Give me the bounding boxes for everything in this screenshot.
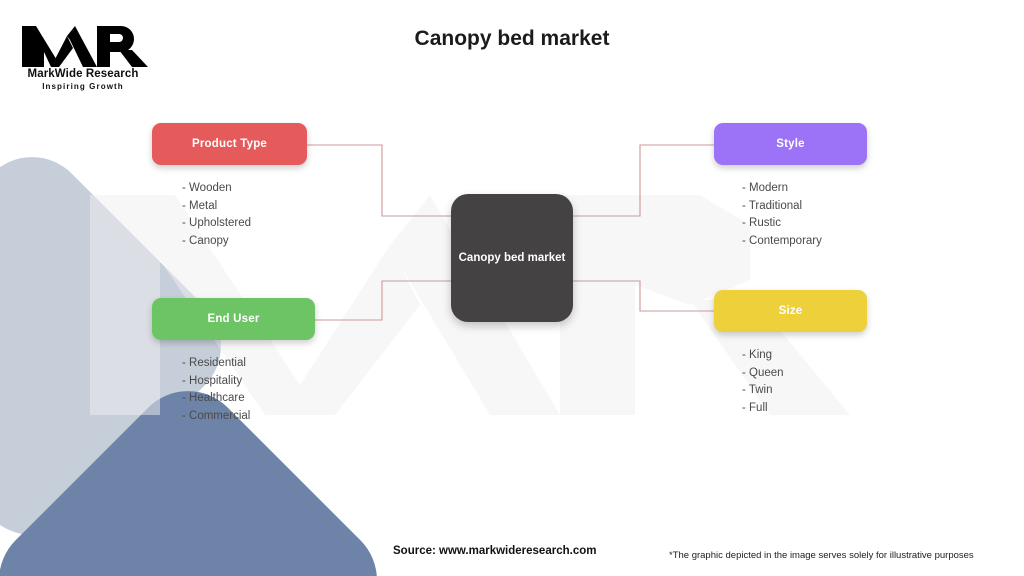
branch-end-user: End User - Residential - Hospitality - H… <box>152 298 315 441</box>
source-text: Source: www.markwideresearch.com <box>393 545 596 557</box>
list-item: - Full <box>742 400 867 418</box>
connector-style <box>572 145 714 216</box>
branch-chip-style[interactable]: Style <box>714 123 867 165</box>
list-item: - Commercial <box>182 408 315 426</box>
branch-items-product-type: - Wooden - Metal - Upholstered - Canopy <box>152 180 307 250</box>
disclaimer-text: *The graphic depicted in the image serve… <box>669 550 974 561</box>
branch-label-product-type: Product Type <box>192 138 267 150</box>
list-item: - Queen <box>742 365 867 383</box>
list-item: - Residential <box>182 355 315 373</box>
branch-chip-end-user[interactable]: End User <box>152 298 315 340</box>
branch-product-type: Product Type - Wooden - Metal - Upholste… <box>152 123 307 266</box>
list-item: - Contemporary <box>742 233 867 251</box>
connector-product-type <box>307 145 452 216</box>
branch-style: Style - Modern - Traditional - Rustic - … <box>714 123 867 266</box>
list-item: - King <box>742 347 867 365</box>
list-item: - Canopy <box>182 233 307 251</box>
connector-size <box>572 281 714 311</box>
list-item: - Upholstered <box>182 215 307 233</box>
branch-items-size: - King - Queen - Twin - Full <box>714 347 867 417</box>
connector-end-user <box>315 281 452 320</box>
center-node[interactable]: Canopy bed market <box>451 194 573 322</box>
branch-chip-product-type[interactable]: Product Type <box>152 123 307 165</box>
branch-size: Size - King - Queen - Twin - Full <box>714 290 867 433</box>
list-item: - Metal <box>182 198 307 216</box>
list-item: - Modern <box>742 180 867 198</box>
list-item: - Hospitality <box>182 373 315 391</box>
branch-items-end-user: - Residential - Hospitality - Healthcare… <box>152 355 315 425</box>
list-item: - Healthcare <box>182 390 315 408</box>
branch-chip-size[interactable]: Size <box>714 290 867 332</box>
list-item: - Rustic <box>742 215 867 233</box>
branch-label-end-user: End User <box>207 313 259 325</box>
branch-label-size: Size <box>779 305 803 317</box>
list-item: - Twin <box>742 382 867 400</box>
list-item: - Wooden <box>182 180 307 198</box>
slide-canvas: MarkWide Research Inspiring Growth Canop… <box>0 0 1024 576</box>
branch-label-style: Style <box>776 138 805 150</box>
center-node-label: Canopy bed market <box>459 252 566 264</box>
branch-items-style: - Modern - Traditional - Rustic - Contem… <box>714 180 867 250</box>
list-item: - Traditional <box>742 198 867 216</box>
